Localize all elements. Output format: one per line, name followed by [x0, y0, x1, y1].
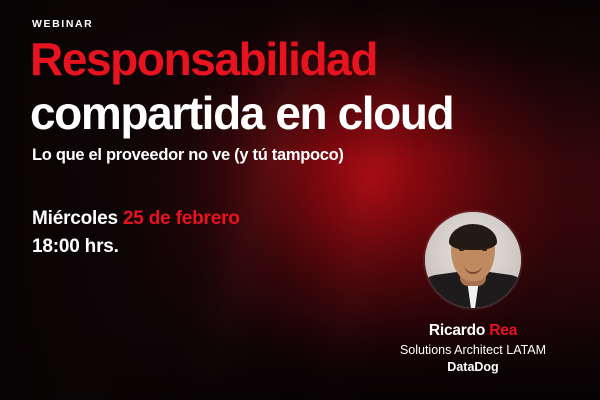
speaker-name: Ricardo Rea	[368, 322, 578, 340]
event-date-line: Miércoles 25 de febrero	[32, 205, 240, 233]
event-time: 18:00 hrs.	[32, 233, 240, 261]
speaker-role: Solutions Architect LATAM	[368, 343, 578, 357]
headline-line-1: Responsabilidad	[30, 36, 590, 82]
avatar-eye-right	[482, 248, 487, 251]
event-date-prefix: Miércoles	[32, 208, 123, 229]
speaker-company: DataDog	[368, 360, 578, 374]
avatar-eye-left	[459, 248, 464, 251]
subheadline: Lo que el proveedor no ve (y tú tampoco)	[32, 146, 344, 165]
webinar-banner: WEBINAR Responsabilidad compartida en cl…	[0, 0, 600, 400]
speaker-avatar	[425, 212, 521, 308]
eyebrow-label: WEBINAR	[32, 18, 93, 30]
banner-content: WEBINAR Responsabilidad compartida en cl…	[0, 0, 600, 400]
event-date-accent: 25 de febrero	[123, 208, 240, 229]
headline-line-2: compartida en cloud	[30, 90, 590, 136]
headline: Responsabilidad compartida en cloud	[30, 36, 590, 136]
speaker-block: Ricardo Rea Solutions Architect LATAM Da…	[368, 212, 578, 374]
event-datetime: Miércoles 25 de febrero 18:00 hrs.	[32, 205, 240, 260]
speaker-last-name: Rea	[489, 322, 517, 339]
speaker-first-name: Ricardo	[429, 322, 489, 339]
